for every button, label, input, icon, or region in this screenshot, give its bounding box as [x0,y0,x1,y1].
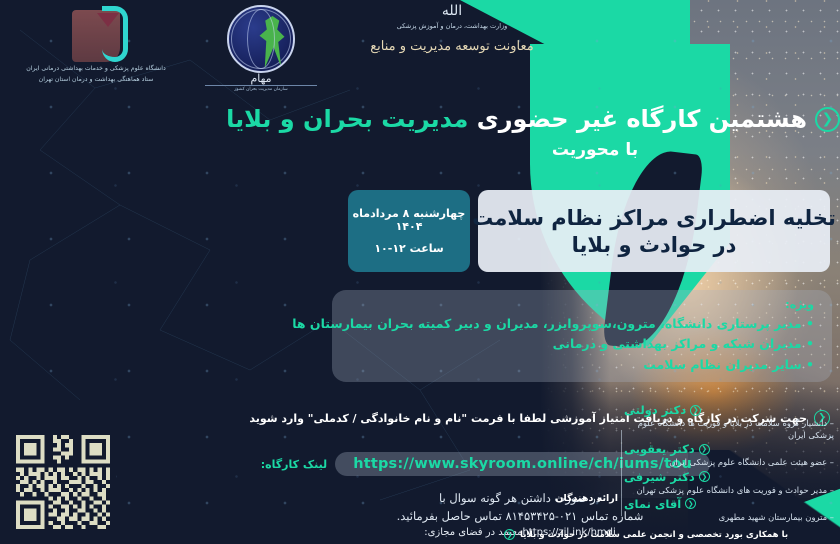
presenter-name-row: دکتر شیرفی ❮ [624,470,834,484]
title-part-white: هشتمین کارگاه غیر حضوری [477,105,807,133]
workshop-link-label: لینک کارگاه: [261,458,327,471]
topic-box: تخلیه اضطراری مراکز نظام سلامت در حوادث … [478,190,830,272]
topic-line1: تخلیه اضطراری مراکز نظام سلامت [472,206,836,230]
moh-line2: معاونت توسعه مدیریت و منابع [352,39,552,54]
list-item: دکتر دولتی ❮ دانشیار گروه سلامت در بلایا… [624,403,834,441]
list-item: سایر مدیران نظام سلامت [346,355,814,375]
presenters-label: ارائه دهندگان [555,493,618,504]
crisis-org-ribbon-text: مهام [205,72,317,85]
logo-crisis-org: مهام سازمان مدیریت بحران کشور [205,3,317,92]
list-item: آقای نمای ❮ مترون بیمارستان شهید مطهری [624,497,834,523]
presenters-list: دکتر دولتی ❮ دانشیار گروه سلامت در بلایا… [624,403,834,524]
cooperation-text: با همکاری بورد تخصصی و انجمن علمی سلامت … [520,530,788,540]
list-item: مدیران شبکه و مراکز بهداشتی و درمانی [346,334,814,354]
qr-code-icon [12,429,114,535]
date-topic-band: چهارشنبه ۸ مردادماه ۱۴۰۴ ساعت ۱۲-۱۰ تخلی… [320,188,840,276]
list-item: دکتر یعقوبی ❮ عضو هیئت علمی دانشگاه علوم… [624,442,834,468]
audience-box: ویژه: مدیر پرستاری دانشگاه، مترون،سوپروا… [332,290,832,382]
logo-ministry-of-health: الله وزارت بهداشت، درمان و آموزش پزشکی م… [352,4,552,54]
list-item: دکتر شیرفی ❮ مدیر حوادث و فوریت های دانش… [624,470,834,496]
chevron-left-icon: ❮ [699,471,710,482]
presenter-name: آقای نمای [624,497,681,511]
presenter-name: دکتر یعقوبی [624,442,695,456]
chevron-left-icon: ❮ [685,498,696,509]
chevron-left-icon: ❮ [815,107,840,132]
presenter-name-row: دکتر دولتی ❮ [624,403,834,417]
list-item: مدیر پرستاری دانشگاه، مترون،سوپروایزر، م… [346,314,814,334]
page-title: هشتمین کارگاه غیر حضوری مدیریت بحران و ب… [226,105,807,133]
presenter-desc: مترون بیمارستان شهید مطهری [624,511,834,523]
cooperation-row: ❮ با همکاری بورد تخصصی و انجمن علمی سلام… [504,529,834,540]
topic-line2: در حوادث و بلایا [572,233,737,257]
event-poster: دانشگاه علوم پزشکی و خدمات بهداشتی درمان… [0,0,840,544]
date-box: چهارشنبه ۸ مردادماه ۱۴۰۴ ساعت ۱۲-۱۰ [348,190,470,272]
qr-code[interactable] [10,427,116,537]
presenter-desc: مدیر حوادث و فوریت های دانشگاه علوم پزشک… [624,484,834,496]
chevron-left-icon: ❮ [690,405,701,416]
presenter-name-row: دکتر یعقوبی ❮ [624,442,834,456]
audience-title: ویژه: [346,298,814,311]
logo-iums: دانشگاه علوم پزشکی و خدمات بهداشتی درمان… [20,6,172,85]
globe-icon [205,3,317,75]
presenter-desc: دانشیار گروه سلامت در بلایا و فوریت ها د… [624,417,834,441]
presenters-divider [621,430,622,516]
title-part-teal: مدیریت بحران و بلایا [226,105,468,133]
crisis-org-ribbon-caption: سازمان مدیریت بحران کشور [205,85,317,92]
iums-caption-line2: ستاد هماهنگی بهداشت و درمان استان تهران [20,75,172,86]
presenter-name: دکتر دولتی [624,403,686,417]
chevron-left-icon: ❮ [699,444,710,455]
presenter-name-row: آقای نمای ❮ [624,497,834,511]
audience-list: مدیر پرستاری دانشگاه، مترون،سوپروایزر، م… [346,314,814,375]
chevron-left-icon: ❮ [504,529,515,540]
main-title-row: ❮ هشتمین کارگاه غیر حضوری مدیریت بحران و… [320,105,840,133]
event-time: ساعت ۱۲-۱۰ [374,242,443,255]
moh-line1: وزارت بهداشت، درمان و آموزش پزشکی [352,22,552,30]
iums-caption-line1: دانشگاه علوم پزشکی و خدمات بهداشتی درمان… [20,64,172,75]
presenter-name: دکتر شیرفی [624,470,695,484]
title-subtitle: با محوریت [320,140,840,160]
presenter-desc: عضو هیئت علمی دانشگاه علوم پزشکی ایران [624,456,834,468]
iums-mark-icon [20,6,172,64]
event-date: چهارشنبه ۸ مردادماه ۱۴۰۴ [348,207,470,233]
iran-emblem-icon: الله [352,4,552,18]
header-logos: دانشگاه علوم پزشکی و خدمات بهداشتی درمان… [0,0,560,102]
